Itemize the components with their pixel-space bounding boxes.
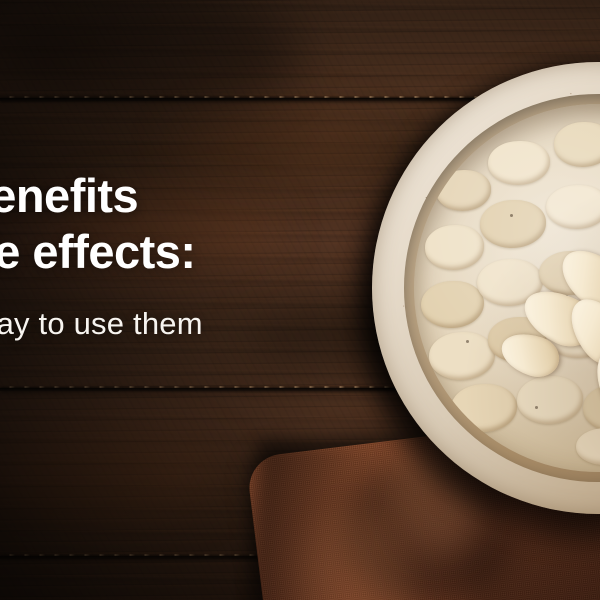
banner-image: benefits de effects: way to use them xyxy=(0,0,600,600)
subheadline: way to use them xyxy=(0,304,340,344)
headline-line-2: de effects: xyxy=(0,224,340,280)
headline-line-1: benefits xyxy=(0,168,340,224)
headline-block: benefits de effects: way to use them xyxy=(0,168,340,344)
chia-seed xyxy=(466,340,469,343)
bowl-contents xyxy=(414,104,600,472)
oatmeal-bowl xyxy=(372,62,600,514)
